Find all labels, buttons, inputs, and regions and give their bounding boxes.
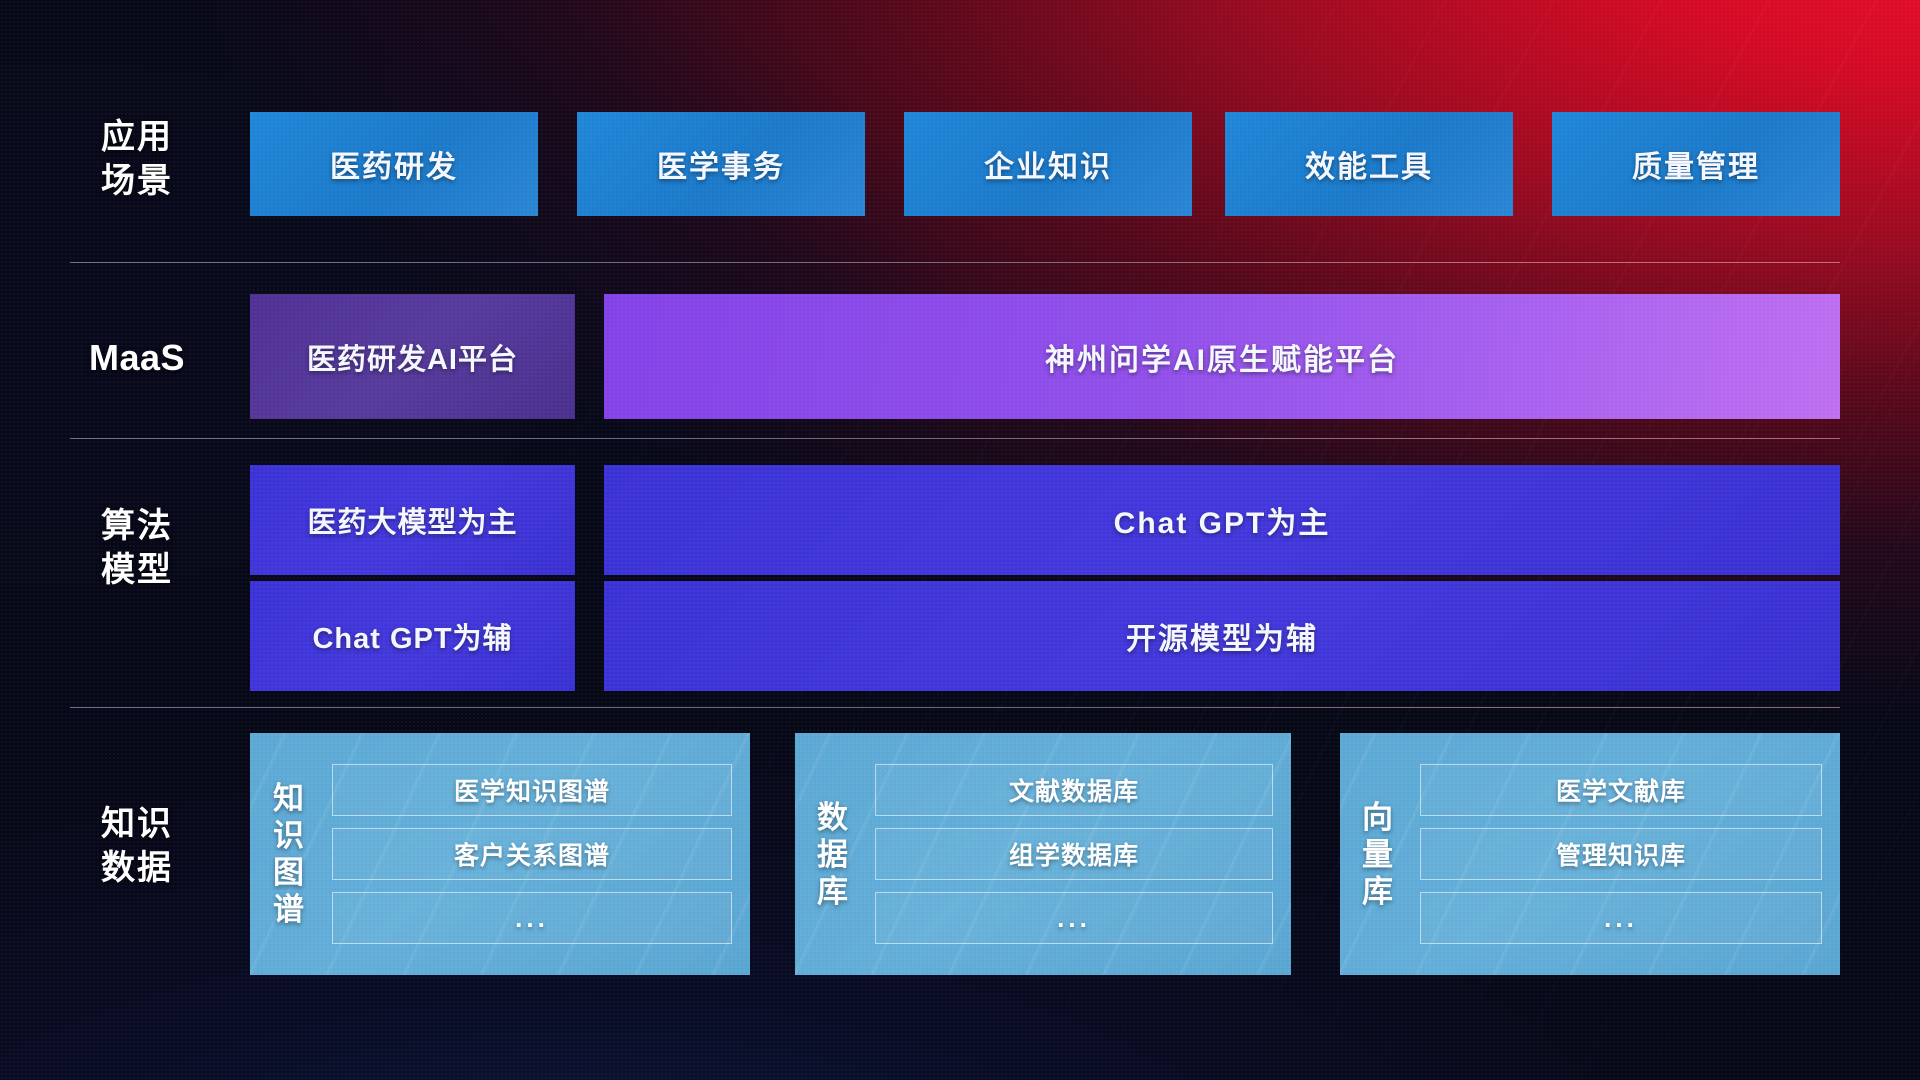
- title-char: 识: [250, 817, 328, 854]
- knowledge-group-database[interactable]: 数 据 库 文献数据库 组学数据库 ...: [795, 733, 1291, 975]
- knowledge-group-title: 数 据 库: [795, 799, 871, 910]
- algo-box-pharma-llm-primary[interactable]: 医药大模型为主: [250, 465, 575, 575]
- knowledge-group-title: 向 量 库: [1340, 799, 1416, 910]
- row-label-line: 应用: [62, 115, 212, 159]
- row-label-line: 数据: [62, 846, 212, 890]
- maas-box-shenzhou-platform[interactable]: 神州问学AI原生赋能平台: [604, 294, 1840, 419]
- knowledge-item[interactable]: 文献数据库: [875, 764, 1273, 816]
- row-label-line: 算法: [62, 504, 212, 548]
- knowledge-item[interactable]: 医学文献库: [1420, 764, 1822, 816]
- row-label-application-scenarios: 应用 场景: [62, 115, 212, 203]
- row-label-line: 知识: [62, 802, 212, 846]
- algo-box-opensource-secondary[interactable]: 开源模型为辅: [604, 581, 1840, 691]
- row-label-maas: MaaS: [62, 336, 212, 380]
- title-char: 库: [1340, 873, 1416, 910]
- title-char: 知: [250, 780, 328, 817]
- title-char: 谱: [250, 891, 328, 928]
- row-label-line: 模型: [62, 548, 212, 592]
- knowledge-item-more[interactable]: ...: [875, 892, 1273, 944]
- knowledge-group-knowledge-graph[interactable]: 知 识 图 谱 医学知识图谱 客户关系图谱 ...: [250, 733, 750, 975]
- app-box-1[interactable]: 医药研发: [250, 112, 538, 216]
- title-char: 量: [1340, 836, 1416, 873]
- title-char: 数: [795, 799, 871, 836]
- title-char: 据: [795, 836, 871, 873]
- knowledge-item[interactable]: 管理知识库: [1420, 828, 1822, 880]
- divider-3: [70, 707, 1840, 708]
- app-box-3[interactable]: 企业知识: [904, 112, 1192, 216]
- app-box-2[interactable]: 医学事务: [577, 112, 865, 216]
- title-char: 向: [1340, 799, 1416, 836]
- row-label-line: 场景: [62, 159, 212, 203]
- row-label-knowledge-data: 知识 数据: [62, 802, 212, 890]
- knowledge-item-more[interactable]: ...: [1420, 892, 1822, 944]
- knowledge-group-vector-store[interactable]: 向 量 库 医学文献库 管理知识库 ...: [1340, 733, 1840, 975]
- row-label-algorithm-models: 算法 模型: [62, 504, 212, 592]
- knowledge-item[interactable]: 组学数据库: [875, 828, 1273, 880]
- title-char: 图: [250, 854, 328, 891]
- maas-box-pharma-ai-platform[interactable]: 医药研发AI平台: [250, 294, 575, 419]
- app-box-4[interactable]: 效能工具: [1225, 112, 1513, 216]
- divider-1: [70, 262, 1840, 263]
- knowledge-item-more[interactable]: ...: [332, 892, 732, 944]
- algo-box-chatgpt-primary[interactable]: Chat GPT为主: [604, 465, 1840, 575]
- divider-2: [70, 438, 1840, 439]
- knowledge-item-list: 文献数据库 组学数据库 ...: [871, 749, 1291, 959]
- knowledge-item-list: 医学文献库 管理知识库 ...: [1416, 749, 1840, 959]
- diagram-stage: 应用 场景 医药研发 医学事务 企业知识 效能工具 质量管理 MaaS 医药研发…: [0, 0, 1920, 1080]
- knowledge-group-title: 知 识 图 谱: [250, 780, 328, 928]
- knowledge-item-list: 医学知识图谱 客户关系图谱 ...: [328, 749, 750, 959]
- app-box-5[interactable]: 质量管理: [1552, 112, 1840, 216]
- row-label-line: MaaS: [62, 336, 212, 380]
- algo-box-chatgpt-secondary[interactable]: Chat GPT为辅: [250, 581, 575, 691]
- knowledge-item[interactable]: 客户关系图谱: [332, 828, 732, 880]
- knowledge-item[interactable]: 医学知识图谱: [332, 764, 732, 816]
- title-char: 库: [795, 873, 871, 910]
